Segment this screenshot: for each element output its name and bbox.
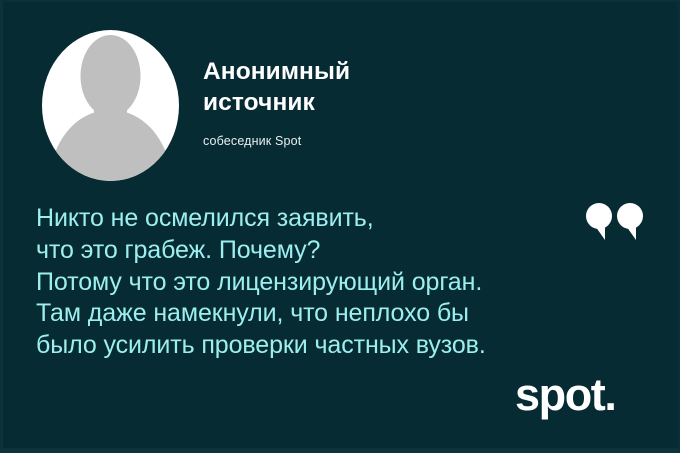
quote-line: Потому что это лицензирующий орган. xyxy=(36,267,486,299)
quote-mark xyxy=(586,203,644,243)
spot-logo: spot. xyxy=(515,372,616,417)
quote-line: Там даже намекнули, что неплохо бы xyxy=(36,298,486,330)
quote-line: было усилить проверки частных вузов. xyxy=(36,330,486,362)
quote-line: Никто не осмелился заявить, xyxy=(36,203,486,235)
source-subtitle: собеседник Spot xyxy=(203,134,350,148)
source-identity: Анонимный источник собеседник Spot xyxy=(203,30,350,148)
anonymous-person-avatar-icon xyxy=(42,30,179,181)
quote-text: Никто не осмелился заявить, что это граб… xyxy=(36,203,486,362)
quote-line: что это грабеж. Почему? xyxy=(36,235,486,267)
quote-card: Анонимный источник собеседник Spot Никто… xyxy=(0,0,680,453)
source-name: Анонимный источник xyxy=(203,56,350,119)
source-header: Анонимный источник собеседник Spot xyxy=(42,30,350,181)
double-quotation-mark-icon xyxy=(586,203,644,243)
avatar xyxy=(42,30,179,181)
